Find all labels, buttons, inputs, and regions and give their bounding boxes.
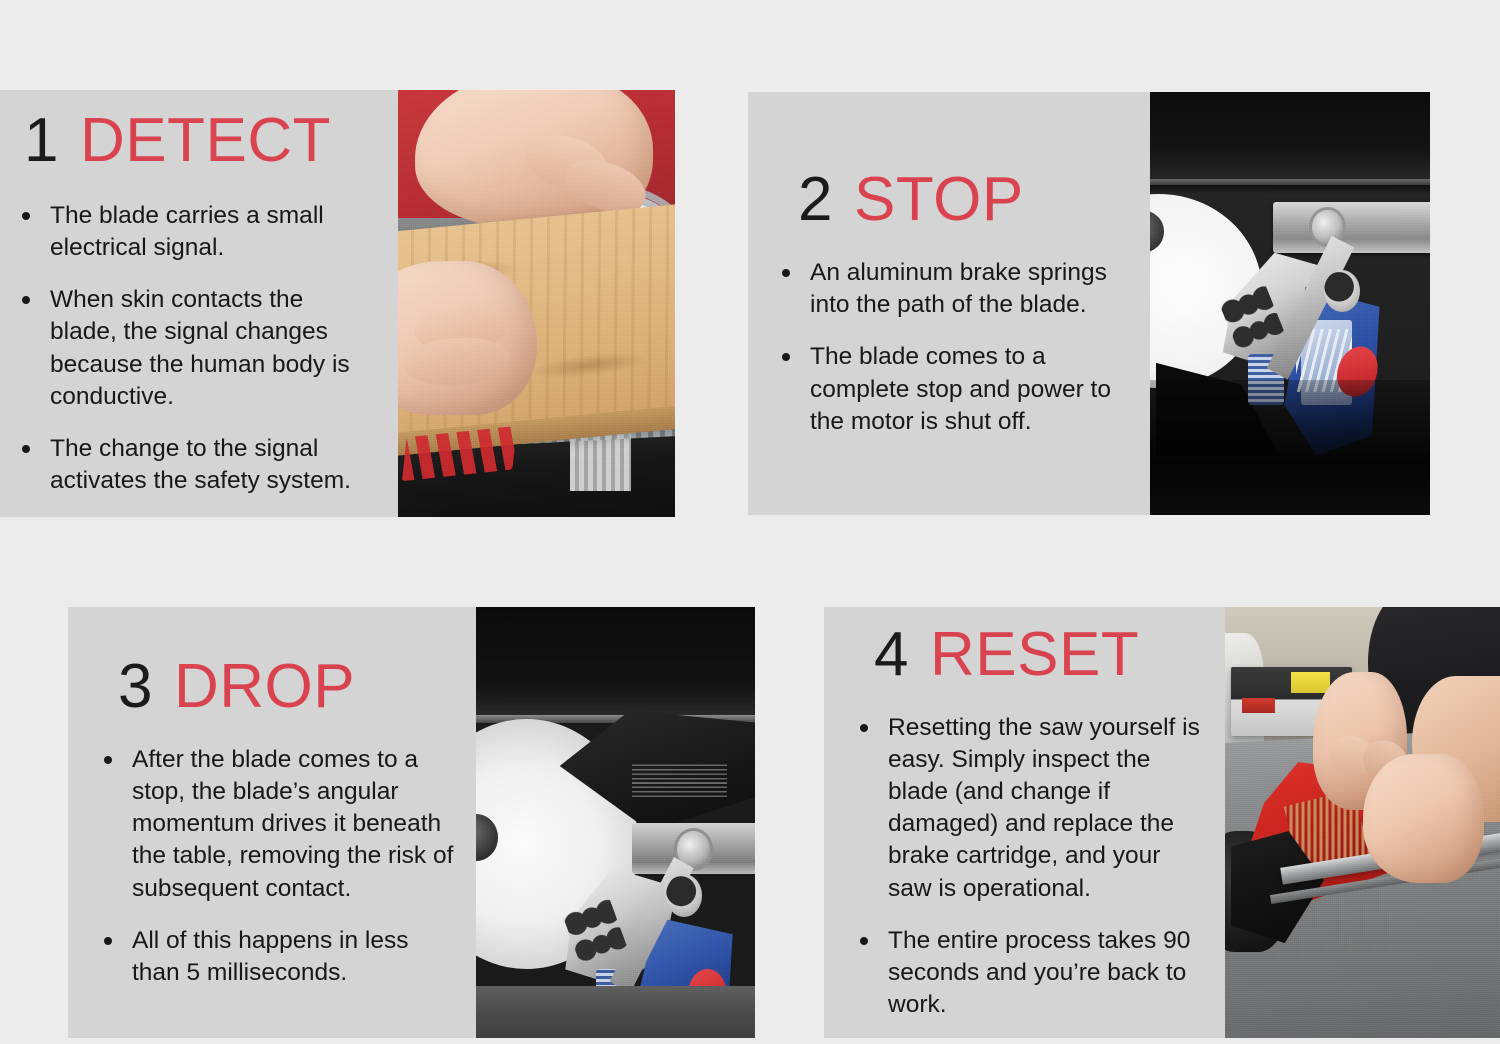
step-number-4: 4 [874, 624, 908, 686]
step-number-1: 1 [24, 110, 58, 172]
list-item: The blade comes to a complete stop and p… [776, 341, 1134, 437]
list-item: All of this happens in less than 5 milli… [98, 925, 460, 989]
step-title-drop: DROP [174, 656, 355, 718]
step-panel-detect-heading: 1 DETECT [16, 110, 376, 172]
infographic-root: 1 DETECT The blade carries a small elect… [0, 0, 1500, 1044]
step-panel-drop-text: 3 DROP After the blade comes to a stop, … [68, 607, 476, 1038]
list-item: An aluminum brake springs into the path … [776, 257, 1134, 321]
step-title-reset: RESET [930, 624, 1139, 686]
step-panel-detect-text: 1 DETECT The blade carries a small elect… [0, 90, 398, 517]
list-item: When skin contacts the blade, the signal… [16, 284, 376, 412]
step-photo-reset [1225, 607, 1500, 1038]
list-item: The change to the signal activates the s… [16, 433, 376, 497]
step-panel-stop-heading: 2 STOP [776, 169, 1134, 231]
list-item: After the blade comes to a stop, the bla… [98, 744, 460, 904]
step-panel-reset-bullets: Resetting the saw yourself is easy. Simp… [854, 712, 1209, 1021]
step-panel-reset-heading: 4 RESET [854, 624, 1209, 686]
step-panel-drop: 3 DROP After the blade comes to a stop, … [68, 607, 755, 1038]
step-photo-drop [476, 607, 755, 1038]
step-photo-stop [1150, 92, 1430, 515]
list-item: The entire process takes 90 seconds and … [854, 925, 1209, 1021]
step-number-3: 3 [118, 656, 152, 718]
step-panel-stop-bullets: An aluminum brake springs into the path … [776, 257, 1134, 437]
list-item: Resetting the saw yourself is easy. Simp… [854, 712, 1209, 905]
step-photo-detect [398, 90, 675, 517]
step-panel-stop-text: 2 STOP An aluminum brake springs into th… [748, 92, 1150, 515]
step-panel-detect-bullets: The blade carries a small electrical sig… [16, 200, 376, 497]
step-title-detect: DETECT [80, 110, 331, 172]
step-panel-detect: 1 DETECT The blade carries a small elect… [0, 90, 675, 517]
step-number-2: 2 [798, 169, 832, 231]
step-panel-drop-bullets: After the blade comes to a stop, the bla… [98, 744, 460, 989]
step-panel-drop-heading: 3 DROP [98, 656, 460, 718]
list-item: The blade carries a small electrical sig… [16, 200, 376, 264]
step-panel-reset: 4 RESET Resetting the saw yourself is ea… [824, 607, 1500, 1038]
step-title-stop: STOP [854, 169, 1024, 231]
step-panel-reset-text: 4 RESET Resetting the saw yourself is ea… [824, 607, 1225, 1038]
step-panel-stop: 2 STOP An aluminum brake springs into th… [748, 92, 1430, 515]
